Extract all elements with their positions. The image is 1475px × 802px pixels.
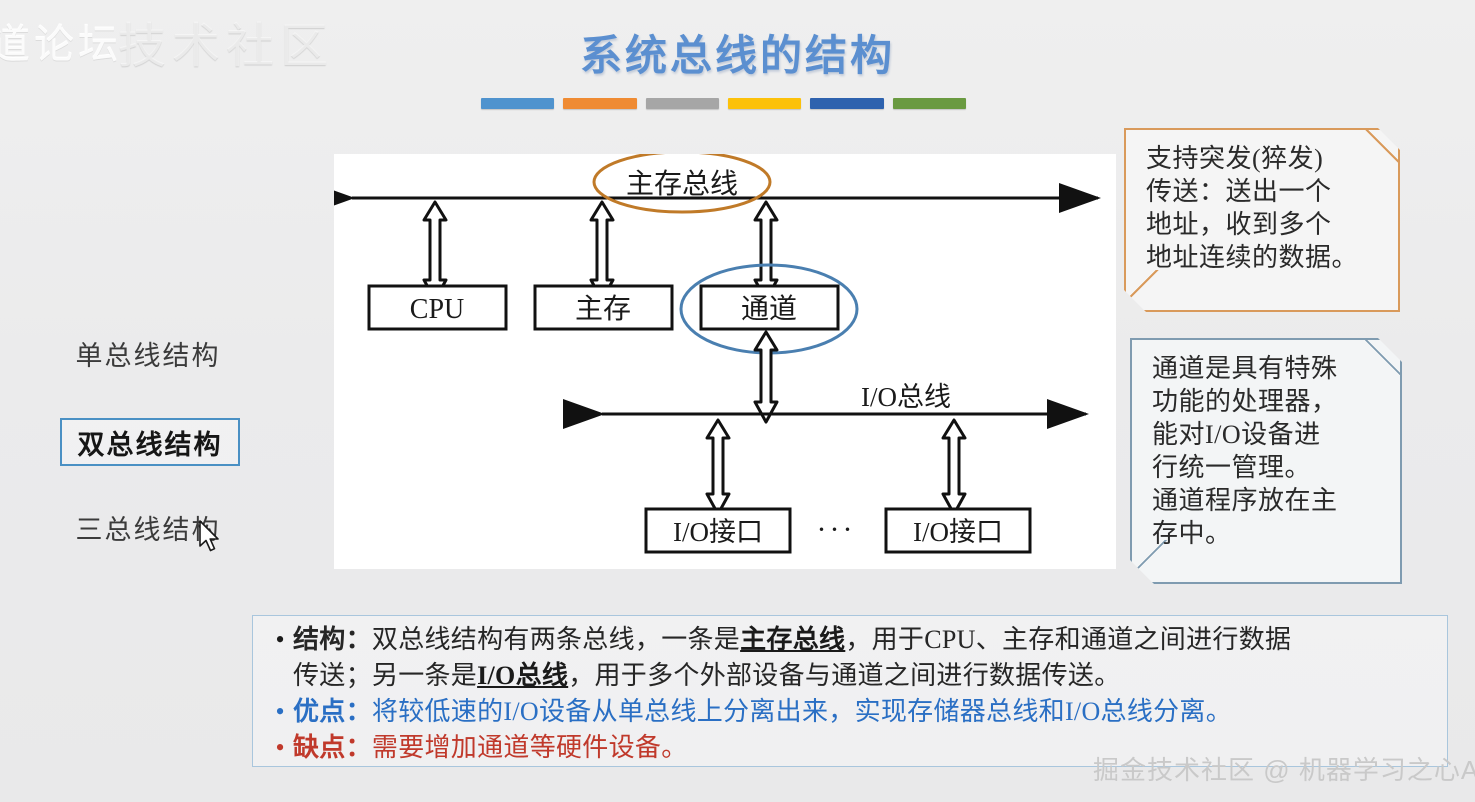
diagram-svg: 主存总线 I/O总线 CPU 主存 通道 I/O接口 I/O接口 ···	[334, 154, 1116, 569]
note-cons-key: 缺点：	[293, 733, 372, 762]
bus-structure-diagram: 主存总线 I/O总线 CPU 主存 通道 I/O接口 I/O接口 ···	[334, 154, 1116, 569]
callout-channel-line-3: 能对I/O设备进	[1152, 418, 1386, 451]
io-bus-label: I/O总线	[861, 382, 951, 412]
note-structure-text-cont: 传送；另一条是I/O总线，用于多个外部设备与通道之间进行数据传送。	[293, 658, 1121, 694]
callout-channel-line-1: 通道是具有特殊	[1152, 352, 1386, 385]
callout-channel-line-6: 存中。	[1152, 517, 1386, 550]
callout-channel-line-5: 通道程序放在主	[1152, 484, 1386, 517]
slide-canvas: 技术社区 道论坛 系统总线的结构 单总线结构 双总线结构 三总线结构	[0, 0, 1475, 802]
note-structure-line2-underlined: I/O总线	[477, 661, 568, 690]
notes-panel: • 结构：双总线结构有两条总线，一条是主存总线，用于CPU、主存和通道之间进行数…	[252, 615, 1448, 767]
io-interface-left-label: I/O接口	[673, 517, 763, 547]
note-cons-body: 需要增加通道等硬件设备。	[372, 733, 688, 762]
channel-box-label: 通道	[741, 293, 797, 325]
watermark-bottom-right: 掘金技术社区 @ 机器学习之心AI	[1093, 750, 1475, 787]
note-pros-bullet: •	[267, 694, 293, 730]
callout-burst-line-4: 地址连续的数据。	[1146, 241, 1384, 274]
note-structure-line1b: ，用于CPU、主存和通道之间进行数据	[845, 625, 1291, 654]
note-structure: • 结构：双总线结构有两条总线，一条是主存总线，用于CPU、主存和通道之间进行数…	[267, 622, 1437, 658]
note-structure-line1a: 双总线结构有两条总线，一条是	[372, 625, 740, 654]
note-structure-line2a: 传送；另一条是	[293, 661, 477, 690]
page-title: 系统总线的结构	[0, 22, 1475, 83]
io-interface-right-label: I/O接口	[913, 517, 1003, 547]
note-pros: • 优点：将较低速的I/O设备从单总线上分离出来，实现存储器总线和I/O总线分离…	[267, 694, 1437, 730]
note-structure-cont: 传送；另一条是I/O总线，用于多个外部设备与通道之间进行数据传送。	[267, 658, 1437, 694]
callout-channel-line-4: 行统一管理。	[1152, 451, 1386, 484]
accent-bar-1	[481, 98, 554, 109]
note-structure-line2b: ，用于多个外部设备与通道之间进行数据传送。	[568, 661, 1120, 690]
callout-burst-line-3: 地址，收到多个	[1146, 208, 1384, 241]
accent-bar-4	[728, 98, 801, 109]
note-pros-text: 优点：将较低速的I/O设备从单总线上分离出来，实现存储器总线和I/O总线分离。	[293, 694, 1232, 730]
note-structure-bullet: •	[267, 622, 293, 658]
io-interface-right-arrow	[943, 420, 965, 514]
main-bus-label: 主存总线	[626, 168, 738, 200]
callout-channel-description: 通道是具有特殊 功能的处理器， 能对I/O设备进 行统一管理。 通道程序放在主 …	[1130, 338, 1402, 584]
callout-burst-transfer: 支持突发(猝发) 传送：送出一个 地址，收到多个 地址连续的数据。	[1124, 128, 1400, 312]
title-accent-bars	[481, 98, 966, 109]
note-cons-bullet: •	[267, 730, 293, 766]
accent-bar-5	[810, 98, 883, 109]
callout-burst-line-1: 支持突发(猝发)	[1146, 142, 1384, 175]
io-interface-left-arrow	[707, 420, 729, 514]
note-structure-line1-underlined: 主存总线	[740, 625, 845, 654]
note-structure-key: 结构：	[293, 625, 372, 654]
accent-bar-6	[893, 98, 966, 109]
accent-bar-3	[646, 98, 719, 109]
sidebar-item-single-bus[interactable]: 单总线结构	[60, 331, 236, 375]
memory-box-label: 主存	[575, 293, 631, 325]
note-cons-text: 缺点：需要增加通道等硬件设备。	[293, 730, 688, 766]
mouse-cursor-icon	[198, 520, 224, 554]
io-ellipsis: ···	[817, 513, 856, 546]
cpu-box-label: CPU	[410, 294, 464, 325]
note-pros-key: 优点：	[293, 697, 372, 726]
accent-bar-2	[563, 98, 636, 109]
note-structure-text: 结构：双总线结构有两条总线，一条是主存总线，用于CPU、主存和通道之间进行数据	[293, 622, 1291, 658]
callout-burst-line-2: 传送：送出一个	[1146, 175, 1384, 208]
sidebar-item-dual-bus[interactable]: 双总线结构	[60, 418, 240, 466]
callout-channel-line-2: 功能的处理器，	[1152, 385, 1386, 418]
note-pros-body: 将较低速的I/O设备从单总线上分离出来，实现存储器总线和I/O总线分离。	[372, 697, 1232, 726]
channel-io-arrow	[755, 332, 777, 422]
